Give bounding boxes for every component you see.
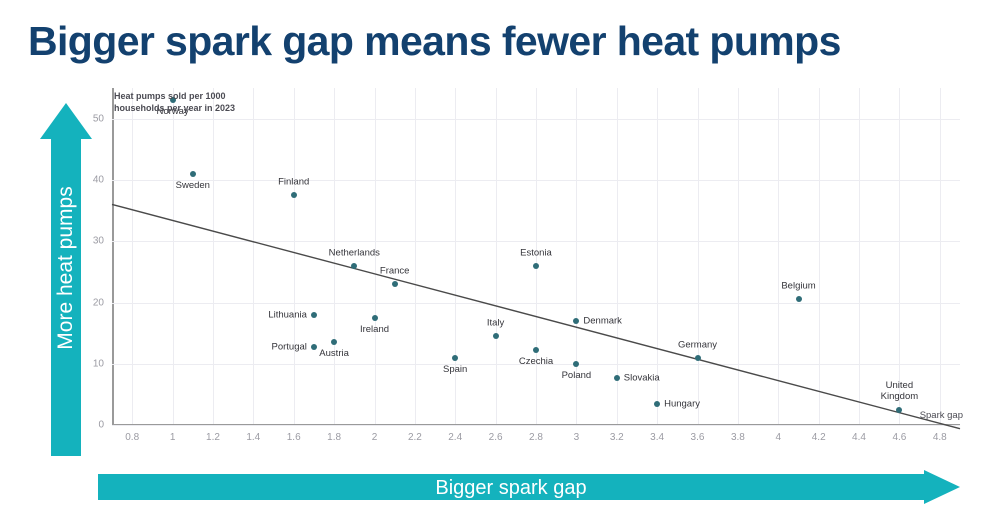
x-axis-tick-label: 2.2 <box>408 432 422 443</box>
data-point[interactable] <box>573 318 579 324</box>
data-point[interactable] <box>291 192 297 198</box>
y-axis-caption: Heat pumps sold per 1000 households per … <box>114 90 244 114</box>
x-axis-tick-label: 1.6 <box>287 432 301 443</box>
data-point[interactable] <box>331 339 337 345</box>
data-point-label: France <box>380 266 410 277</box>
data-point[interactable] <box>392 281 398 287</box>
x-axis-tick-label: 4.4 <box>852 432 866 443</box>
data-point-label: Slovakia <box>624 373 660 384</box>
data-point[interactable] <box>796 296 802 302</box>
x-axis-tick-label: 1.8 <box>327 432 341 443</box>
x-axis-tick-label: 4.6 <box>892 432 906 443</box>
data-point-label: Denmark <box>583 315 622 326</box>
data-point-label: Estonia <box>520 247 552 258</box>
data-point-label: Lithuania <box>268 309 307 320</box>
y-axis-tick-label: 10 <box>93 358 104 369</box>
data-point[interactable] <box>533 263 539 269</box>
data-point-label: Hungary <box>664 398 700 409</box>
data-point-label: Finland <box>278 177 309 188</box>
x-axis-tick-label: 3.4 <box>650 432 664 443</box>
x-axis-tick-label: 1.2 <box>206 432 220 443</box>
x-axis-tick-label: 2.6 <box>489 432 503 443</box>
x-axis-tick-label: 4.2 <box>812 432 826 443</box>
data-point[interactable] <box>190 171 196 177</box>
bigger-spark-gap-arrow: Bigger spark gap <box>98 470 960 504</box>
data-point-label: Austria <box>319 348 349 359</box>
chart-page: Bigger spark gap means fewer heat pumps … <box>0 0 1000 511</box>
data-point-label: Spain <box>443 364 467 375</box>
data-point[interactable] <box>695 355 701 361</box>
data-point[interactable] <box>654 401 660 407</box>
more-heat-pumps-arrow: More heat pumps <box>40 103 92 456</box>
vertical-arrow-label: More heat pumps <box>54 128 78 408</box>
data-point[interactable] <box>896 407 902 413</box>
data-point[interactable] <box>573 361 579 367</box>
data-point[interactable] <box>311 344 317 350</box>
data-point[interactable] <box>614 375 620 381</box>
scatter-plot: 01020304050 0.811.21.41.61.822.22.42.62.… <box>112 88 960 425</box>
x-axis-tick-label: 2 <box>372 432 378 443</box>
data-point-label: Ireland <box>360 324 389 335</box>
data-point-label: Czechia <box>519 356 553 367</box>
y-axis-tick-label: 40 <box>93 174 104 185</box>
x-axis-tick-label: 1 <box>170 432 176 443</box>
x-axis-tick-label: 3.8 <box>731 432 745 443</box>
x-axis-tick-label: 0.8 <box>125 432 139 443</box>
y-axis-tick-label: 0 <box>98 420 104 431</box>
x-axis-tick-label: 2.4 <box>448 432 462 443</box>
gridline-horizontal <box>112 425 960 426</box>
data-point-label: Italy <box>487 318 504 329</box>
x-axis-tick-label: 1.4 <box>246 432 260 443</box>
x-axis-caption: Spark gap <box>920 410 963 421</box>
x-axis-tick-label: 2.8 <box>529 432 543 443</box>
data-point[interactable] <box>311 312 317 318</box>
x-axis-tick-label: 4.8 <box>933 432 947 443</box>
data-point[interactable] <box>372 315 378 321</box>
y-axis-tick-label: 30 <box>93 236 104 247</box>
data-point[interactable] <box>452 355 458 361</box>
data-point-label: Germany <box>678 339 717 350</box>
data-point-label: Sweden <box>176 180 210 191</box>
y-axis-tick-label: 50 <box>93 113 104 124</box>
data-point[interactable] <box>351 263 357 269</box>
x-axis-tick-label: 3 <box>574 432 580 443</box>
data-point-label: Poland <box>562 370 592 381</box>
page-title: Bigger spark gap means fewer heat pumps <box>28 18 978 65</box>
x-axis-tick-label: 3.6 <box>691 432 705 443</box>
data-point-label: United Kingdom <box>881 380 919 403</box>
y-axis-tick-label: 20 <box>93 297 104 308</box>
data-point[interactable] <box>493 333 499 339</box>
data-point-label: Portugal <box>272 341 307 352</box>
arrow-right-icon <box>924 470 960 504</box>
plot-frame: 01020304050 0.811.21.41.61.822.22.42.62.… <box>112 88 960 425</box>
data-point-label: Netherlands <box>329 247 380 258</box>
x-axis-tick-label: 4 <box>776 432 782 443</box>
x-axis-tick-label: 3.2 <box>610 432 624 443</box>
data-point[interactable] <box>533 347 539 353</box>
horizontal-arrow-label: Bigger spark gap <box>98 477 924 500</box>
data-point-label: Belgium <box>781 281 815 292</box>
